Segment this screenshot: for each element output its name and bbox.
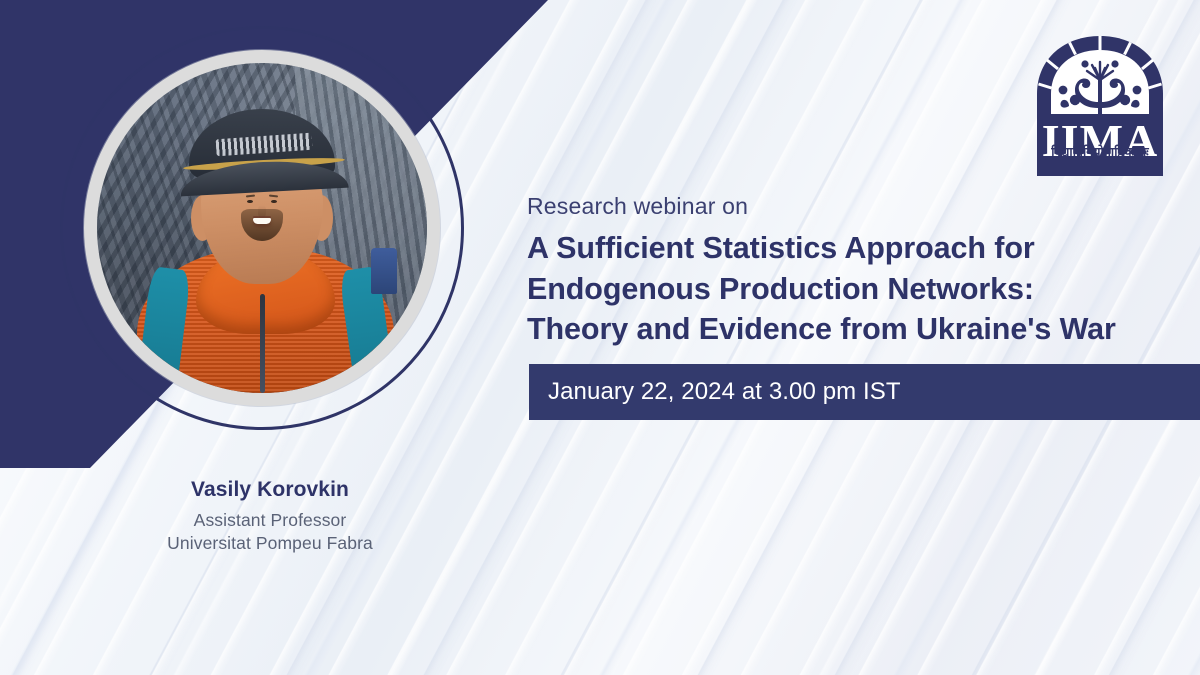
photo-smile bbox=[253, 218, 270, 224]
webinar-poster: IIMA विद्याविनियोगाद्विकासः Research web… bbox=[0, 0, 1200, 675]
photo-water-bottle bbox=[371, 248, 397, 294]
iima-motto: विद्याविनियोगाद्विकासः bbox=[1025, 146, 1175, 159]
title-line-1: A Sufficient Statistics Approach for bbox=[527, 228, 1127, 269]
photo-jacket-zipper bbox=[260, 294, 265, 393]
date-time-text: January 22, 2024 at 3.00 pm IST bbox=[548, 378, 901, 406]
title-line-3: Theory and Evidence from Ukraine's War bbox=[527, 309, 1127, 350]
date-time-banner: January 22, 2024 at 3.00 pm IST bbox=[529, 364, 1200, 420]
speaker-role: Assistant Professor bbox=[60, 509, 480, 532]
eyebrow-label: Research webinar on bbox=[527, 193, 748, 220]
photo-eyebrow-left bbox=[246, 195, 255, 198]
speaker-photo bbox=[97, 63, 427, 393]
speaker-name: Vasily Korovkin bbox=[60, 478, 480, 502]
webinar-title: A Sufficient Statistics Approach for End… bbox=[527, 228, 1127, 350]
photo-eye-right bbox=[271, 200, 277, 204]
photo-eye-left bbox=[247, 200, 253, 204]
title-line-2: Endogenous Production Networks: bbox=[527, 269, 1127, 310]
speaker-info: Vasily Korovkin Assistant Professor Univ… bbox=[60, 478, 480, 555]
photo-beard bbox=[241, 209, 283, 241]
speaker-photo-frame bbox=[52, 18, 472, 438]
photo-eyebrow-right bbox=[269, 195, 278, 198]
speaker-affiliation: Universitat Pompeu Fabra bbox=[60, 532, 480, 555]
